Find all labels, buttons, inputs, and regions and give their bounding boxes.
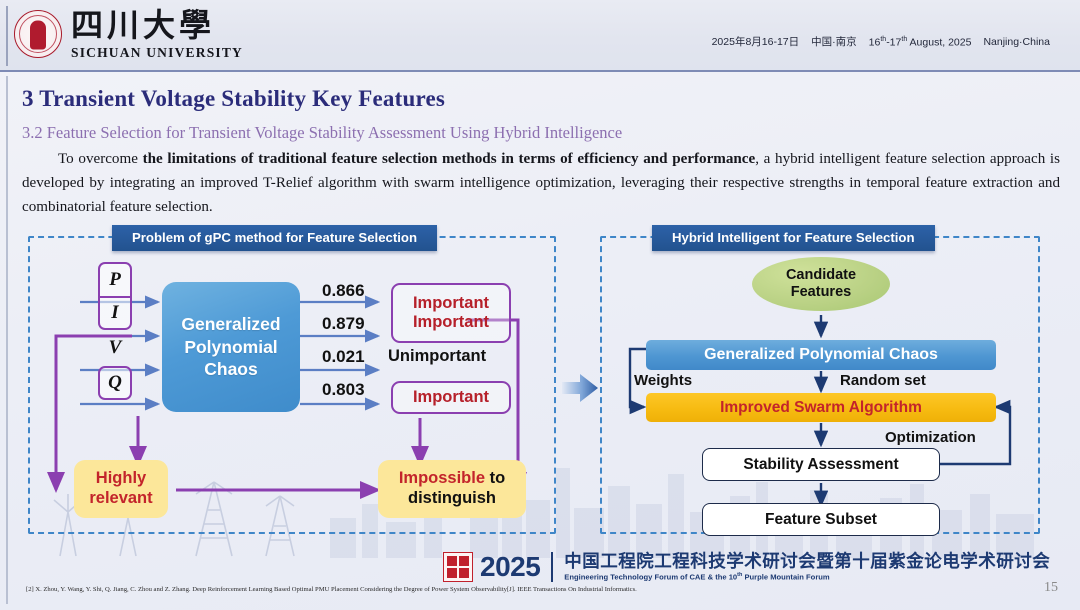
candidate-line2: Features: [791, 284, 851, 301]
impossible-line1: Impossible to: [399, 469, 505, 489]
university-logo-text: 四川大學 SICHUAN UNIVERSITY: [71, 9, 243, 60]
forum-seal-icon: [443, 552, 473, 582]
footer-divider: [551, 552, 553, 582]
result-label-3: Unimportant: [388, 347, 486, 366]
highly-relevant-line2: relevant: [89, 489, 152, 509]
candidate-line1: Candidate: [786, 267, 856, 284]
header-left-rule: [6, 6, 8, 66]
result-label-2: Important: [413, 313, 489, 332]
body-paragraph: To overcome the limitations of tradition…: [22, 148, 1060, 220]
optimization-label: Optimization: [885, 429, 976, 446]
slide-header: 四川大學 SICHUAN UNIVERSITY 2025年8月16-17日 中国…: [0, 0, 1080, 72]
sichuan-university-seal-icon: [14, 10, 62, 58]
gpc-line2: Polynomial: [184, 336, 277, 358]
university-logo: 四川大學 SICHUAN UNIVERSITY: [14, 9, 243, 60]
impossible-to-distinguish-box: Impossible to distinguish: [378, 460, 526, 518]
conference-date-en: 16th-17th August, 2025: [869, 36, 972, 49]
score-value-3: 0.021: [322, 347, 365, 367]
impossible-line2: distinguish: [408, 489, 496, 509]
input-box-q: Q: [98, 366, 132, 400]
conference-date-place: 2025年8月16-17日 中国·南京 16th-17th August, 20…: [712, 34, 1050, 49]
page-title: 3 Transient Voltage Stability Key Featur…: [22, 86, 445, 112]
highly-relevant-line1: Highly: [96, 469, 146, 489]
page-number: 15: [1044, 580, 1058, 596]
gpc-bar-node: Generalized Polynomial Chaos: [646, 340, 996, 370]
input-box-i: I: [98, 296, 132, 330]
random-set-label: Random set: [840, 372, 926, 389]
university-name-en: SICHUAN UNIVERSITY: [71, 46, 243, 60]
reference-citation: [2] X. Zhou, Y. Wang, Y. Shi, Q. Jiang, …: [26, 586, 637, 593]
candidate-features-node: Candidate Features: [752, 257, 890, 311]
paragraph-part1: To overcome: [58, 151, 143, 167]
highly-relevant-box: Highly relevant: [74, 460, 168, 518]
page-subtitle: 3.2 Feature Selection for Transient Volt…: [22, 123, 622, 143]
score-value-1: 0.866: [322, 281, 365, 301]
result-label-4: Important: [413, 388, 489, 407]
result-label-1: Important: [413, 294, 489, 313]
conference-footer-logo: 2025 中国工程院工程科技学术研讨会暨第十届紫金论电学术研讨会 Enginee…: [443, 551, 1050, 583]
conference-place-en: Nanjing·China: [983, 36, 1050, 48]
input-label-v: V: [98, 334, 132, 362]
conference-date-cn: 2025年8月16-17日: [712, 34, 800, 49]
forum-name-block: 中国工程院工程科技学术研讨会暨第十届紫金论电学术研讨会 Engineering …: [564, 552, 1050, 582]
forum-name-cn: 中国工程院工程科技学术研讨会暨第十届紫金论电学术研讨会: [564, 552, 1050, 570]
body-left-rule: [6, 76, 8, 604]
weights-label: Weights: [634, 372, 692, 389]
score-value-2: 0.879: [322, 314, 365, 334]
gpc-line1: Generalized: [181, 313, 280, 335]
conference-place-cn: 中国·南京: [811, 34, 857, 49]
forum-name-en: Engineering Technology Forum of CAE & th…: [564, 573, 1050, 582]
input-box-p: P: [98, 262, 132, 296]
result-box-important-3: Important: [391, 381, 511, 414]
university-name-cn: 四川大學: [71, 9, 243, 41]
gpc-line3: Chaos: [204, 358, 257, 380]
paragraph-bold: the limitations of traditional feature s…: [143, 151, 756, 167]
improved-swarm-algorithm-node: Improved Swarm Algorithm: [646, 393, 996, 422]
generalized-polynomial-chaos-box: Generalized Polynomial Chaos: [162, 282, 300, 412]
feature-subset-node: Feature Subset: [702, 503, 940, 536]
flow-transition-arrow-icon: [560, 371, 600, 405]
forum-year: 2025: [480, 551, 540, 583]
stability-assessment-node: Stability Assessment: [702, 448, 940, 481]
slide-root: 四川大學 SICHUAN UNIVERSITY 2025年8月16-17日 中国…: [0, 0, 1080, 610]
score-value-4: 0.803: [322, 380, 365, 400]
result-box-important-pair: Important Important: [391, 283, 511, 343]
